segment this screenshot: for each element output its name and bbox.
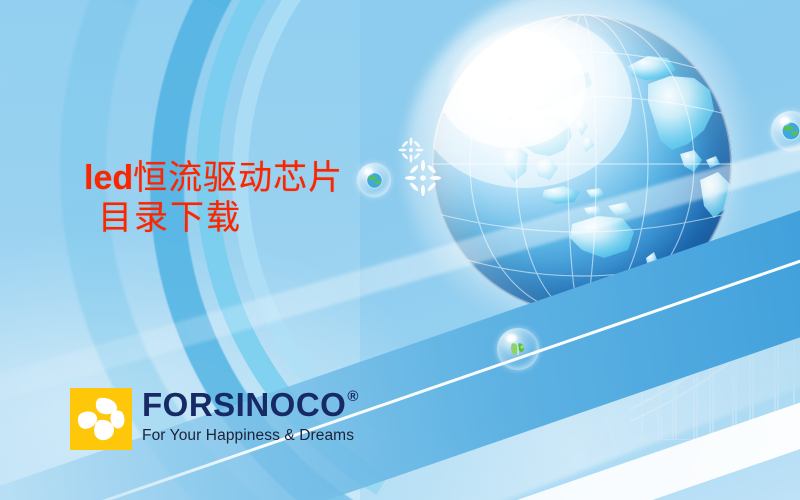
bubble-with-globe-icon-edge	[771, 111, 800, 151]
headline-line-2: 目录下载	[84, 198, 343, 238]
headline-line-1: led恒流驱动芯片	[84, 158, 343, 198]
logo-wordmark: FORSINOCO ®	[142, 388, 359, 421]
headline-cjk-text: 恒流驱动芯片	[133, 158, 343, 198]
bubble-with-leaf-icon	[497, 328, 539, 370]
bubble-inner-a	[357, 163, 391, 197]
bubble-with-globe-icon	[357, 163, 391, 197]
leaf-sprout-icon	[506, 337, 530, 361]
sparkle-large-icon	[405, 160, 441, 201]
promo-banner: led恒流驱动芯片 目录下载 FORSINOCO ® For Your Happ…	[0, 0, 800, 500]
four-petal-flower-icon	[70, 388, 132, 450]
logo-wordmark-text: FORSINOCO	[142, 388, 346, 421]
globe-icon	[780, 120, 800, 142]
brand-logo: FORSINOCO ® For Your Happiness & Dreams	[70, 388, 359, 450]
logo-text-lockup: FORSINOCO ® For Your Happiness & Dreams	[142, 388, 359, 444]
globe-icon	[365, 171, 384, 190]
registered-trademark-symbol: ®	[347, 389, 359, 404]
headline: led恒流驱动芯片 目录下载	[84, 158, 343, 238]
logo-tagline: For Your Happiness & Dreams	[142, 427, 359, 444]
headline-latin-text: led	[84, 159, 133, 197]
bubble-inner-c	[771, 111, 800, 151]
bubble-inner-b	[497, 328, 539, 370]
